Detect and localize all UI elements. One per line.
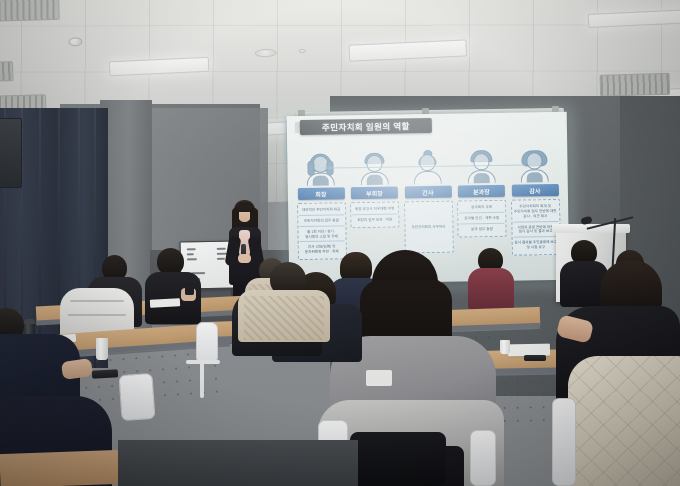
- role-column-auditor: 감사 주민자치회의 회계 및 주민자치회 업무 전반에 대한 감사 · 의견 제…: [509, 150, 561, 273]
- wall-speaker-icon: [0, 118, 22, 188]
- role-detail-box: 주민자치회의 사무처리: [404, 201, 454, 254]
- role-detail-line: 주민자치회의 회계 및 주민자치회 업무 전반에 대한 감사 · 의견 제시: [513, 202, 558, 222]
- seminar-room-photograph: 주민자치회 임원의 역할 회장 대외적인 주민자치회 대표 주민자치회의 업무 …: [0, 0, 680, 486]
- role-label: 회장: [297, 187, 344, 200]
- role-detail-line: 대외적인 주민자치회 대표: [299, 205, 344, 216]
- role-label: 간사: [404, 186, 451, 199]
- clothing-tag: [366, 370, 392, 386]
- role-detail-line: 분과별 안건 · 계획 수립: [459, 214, 504, 225]
- chair-backrest: [552, 398, 576, 486]
- white-paper-cup: [96, 338, 108, 360]
- role-detail-line: 회장 유고시 직무대행 수행: [352, 204, 397, 215]
- cream-quilted-jacket-on-chair: [568, 356, 680, 486]
- chair-seat-frame: [186, 360, 220, 364]
- chair-leg: [200, 362, 204, 398]
- role-label: 부회장: [351, 186, 398, 199]
- person-illustration-icon: [303, 153, 337, 186]
- role-detail-line: 분과회의 주재: [459, 203, 504, 214]
- table-top-foreground: [0, 450, 121, 486]
- role-detail-line: 회장의 업무 보좌 · 지원: [352, 215, 397, 225]
- white-paper-cup: [500, 340, 510, 354]
- black-phone: [92, 369, 118, 378]
- person-illustration-icon: [357, 153, 391, 186]
- paper-handout: [150, 298, 180, 308]
- role-label: 분과장: [458, 185, 505, 198]
- role-detail-line: 월 1회 이상 / 정기 · 임시회의 소집 및 주재: [299, 227, 344, 242]
- person-illustration-icon: [410, 152, 444, 185]
- role-label: 감사: [511, 184, 558, 197]
- chair-seat-cushion: [350, 432, 446, 486]
- person-illustration-icon: [517, 150, 551, 183]
- role-detail-line: 분과 업무 총괄: [459, 224, 504, 234]
- slide-title: 주민자치회 임원의 역할: [300, 118, 432, 135]
- role-detail-box: 회장 유고시 직무대행 수행 회장의 업무 보좌 · 지원: [350, 201, 399, 227]
- chair-backrest: [470, 430, 496, 486]
- quilt-pattern: [568, 356, 680, 486]
- black-phone: [524, 355, 546, 361]
- role-detail-line: 감사 결과를 주민총회에 보고 및 시정 요구: [513, 238, 558, 252]
- audience-person-cream-knit-foreground: [238, 262, 330, 338]
- role-detail-box: 분과회의 주재 분과별 안건 · 계획 수립 분과 업무 총괄: [457, 200, 507, 237]
- audience-person-black-tee-phone: [145, 248, 201, 320]
- chair-backrest: [196, 322, 218, 364]
- chair-backrest: [118, 373, 155, 421]
- floor: [118, 440, 358, 486]
- person-illustration-icon: [464, 151, 498, 184]
- role-detail-line: 주민자치회의 업무 총괄: [299, 216, 344, 227]
- role-detail-line: 주민자치회의 사무처리: [406, 222, 451, 232]
